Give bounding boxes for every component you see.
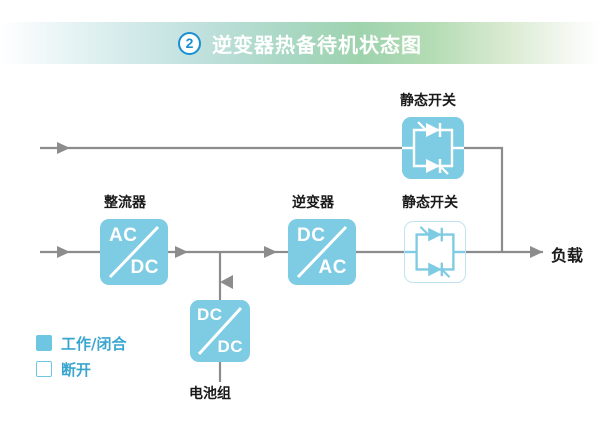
block-static-switch-bypass[interactable] [402, 117, 464, 179]
block-rectifier[interactable]: AC DC [100, 219, 168, 285]
legend-swatch-filled [36, 335, 52, 351]
caption-inverter: 逆变器 [292, 192, 334, 212]
legend-label-open: 断开 [61, 359, 91, 380]
load-label: 负载 [551, 242, 583, 266]
legend-item-active: 工作/闭合 [36, 330, 126, 356]
caption-output-static-switch: 静态开关 [402, 192, 458, 212]
block-static-switch-output[interactable] [404, 221, 466, 283]
rectifier-output-type: DC [131, 257, 159, 279]
inverter-output-type: AC [319, 257, 347, 279]
battery-input-type: DC [197, 305, 223, 325]
antiparallel-thyristor-icon [405, 222, 465, 282]
inverter-input-type: DC [297, 225, 325, 247]
caption-rectifier: 整流器 [104, 192, 146, 212]
battery-output-type: DC [217, 337, 243, 357]
block-battery[interactable]: DC DC [190, 300, 250, 362]
legend-item-open: 断开 [36, 356, 126, 382]
wire-bypass-to-load-bus [463, 148, 502, 252]
legend-label-active: 工作/闭合 [61, 333, 126, 354]
legend-swatch-outline [36, 361, 52, 377]
antiparallel-thyristor-icon [402, 117, 464, 179]
block-inverter[interactable]: DC AC [288, 219, 356, 285]
rectifier-input-type: AC [109, 225, 137, 247]
caption-battery: 电池组 [189, 383, 231, 403]
ups-diagram: 静态开关 整流器 AC DC 逆变器 [0, 0, 600, 428]
caption-bypass-static-switch: 静态开关 [400, 90, 456, 110]
legend: 工作/闭合 断开 [36, 330, 126, 382]
